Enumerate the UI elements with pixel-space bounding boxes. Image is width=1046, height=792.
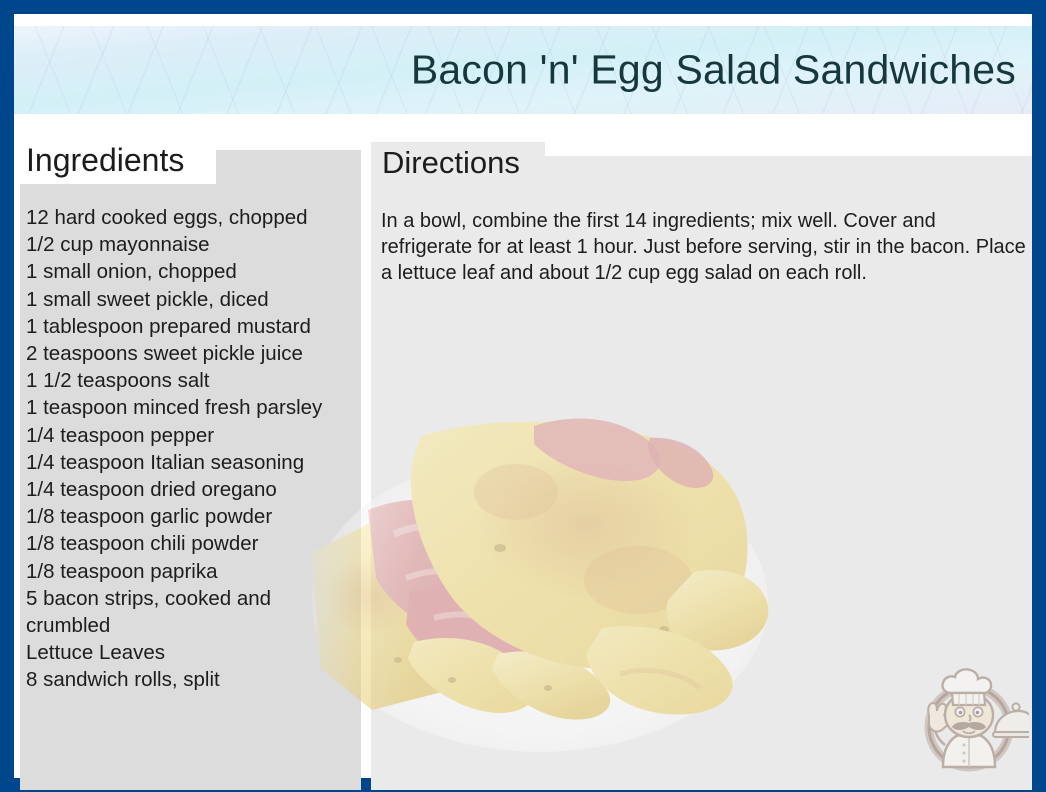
ingredient-item: 5 bacon strips, cooked and bbox=[26, 585, 356, 612]
ingredient-item: crumbled bbox=[26, 612, 356, 639]
ingredient-item: 1/8 teaspoon garlic powder bbox=[26, 503, 356, 530]
ingredient-item: Lettuce Leaves bbox=[26, 639, 356, 666]
ingredient-item: 8 sandwich rolls, split bbox=[26, 666, 356, 693]
ingredient-item: 1/8 teaspoon paprika bbox=[26, 558, 356, 585]
ingredient-item: 1 small sweet pickle, diced bbox=[26, 286, 356, 313]
ingredients-heading: Ingredients bbox=[26, 140, 184, 180]
ingredient-item: 1/8 teaspoon chili powder bbox=[26, 530, 356, 557]
food-photo bbox=[302, 392, 772, 772]
ingredients-list: 12 hard cooked eggs, chopped1/2 cup mayo… bbox=[26, 204, 356, 694]
recipe-card: Bacon 'n' Egg Salad Sandwiches Ingredien… bbox=[14, 14, 1032, 778]
ingredient-item: 2 teaspoons sweet pickle juice bbox=[26, 340, 356, 367]
page-title: Bacon 'n' Egg Salad Sandwiches bbox=[411, 47, 1016, 94]
ingredient-item: 12 hard cooked eggs, chopped bbox=[26, 204, 356, 231]
ingredient-item: 1 small onion, chopped bbox=[26, 258, 356, 285]
title-banner: Bacon 'n' Egg Salad Sandwiches bbox=[14, 26, 1032, 114]
ingredient-item: 1/4 teaspoon Italian seasoning bbox=[26, 449, 356, 476]
ingredient-item: 1/2 cup mayonnaise bbox=[26, 231, 356, 258]
ingredient-item: 1 tablespoon prepared mustard bbox=[26, 313, 356, 340]
chef-logo bbox=[909, 659, 1029, 779]
directions-heading: Directions bbox=[382, 143, 520, 183]
ingredient-item: 1/4 teaspoon pepper bbox=[26, 422, 356, 449]
ingredient-item: 1 teaspoon minced fresh parsley bbox=[26, 394, 356, 421]
ingredient-item: 1 1/2 teaspoons salt bbox=[26, 367, 356, 394]
directions-text: In a bowl, combine the first 14 ingredie… bbox=[381, 208, 1026, 286]
ingredient-item: 1/4 teaspoon dried oregano bbox=[26, 476, 356, 503]
